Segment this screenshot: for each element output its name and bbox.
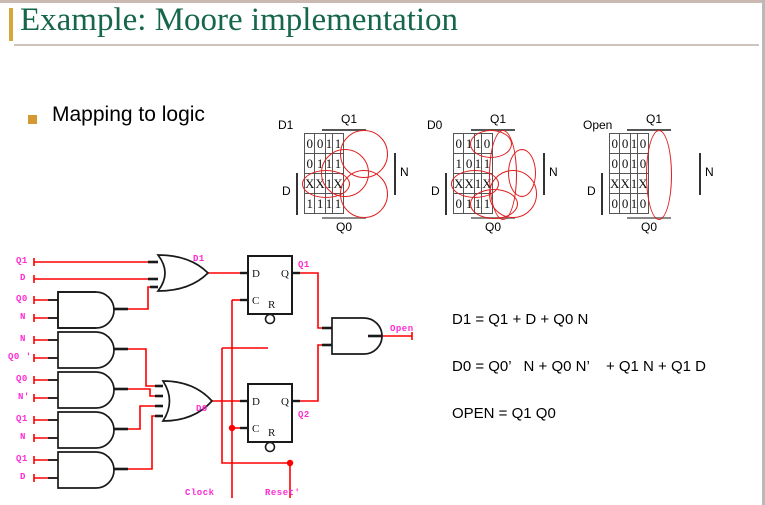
- kmap-left-bar: [445, 173, 447, 215]
- kmap-cell: 1: [630, 194, 638, 214]
- kmap-grid: 01101011XX1X0111: [453, 133, 493, 214]
- kmap-bottom-label: Q0: [336, 220, 352, 234]
- circuit-input-label-n-b: N: [20, 334, 26, 344]
- kmap-right-bar: [699, 153, 701, 195]
- kmap-row: XX1X: [454, 174, 493, 194]
- kmap-cell: 1: [464, 134, 474, 154]
- kmap-cell: 1: [474, 194, 482, 214]
- kmap-grid: 00110111XX1X1111: [304, 133, 344, 214]
- kmap-right-label: N: [549, 165, 558, 179]
- circuit-control-label-clock: Clock: [185, 488, 215, 498]
- red-wires: [34, 258, 412, 498]
- equation-d1: D1 = Q1 + D + Q0 N: [452, 311, 588, 328]
- kmap-title: Open: [583, 118, 612, 132]
- kmap-cell: 1: [474, 134, 482, 154]
- kmap-cell: 0: [638, 194, 648, 214]
- kmap-cell: 1: [325, 174, 333, 194]
- kmap-left-bar: [601, 173, 603, 215]
- kmap-cell: 0: [305, 134, 315, 154]
- circuit-input-label-n-c: N: [20, 432, 26, 442]
- svg-text:D: D: [252, 268, 260, 280]
- kmap-row: 1111: [305, 194, 344, 214]
- circuit-input-label-q1-b: Q1: [16, 414, 28, 424]
- kmap-cell: 0: [638, 154, 648, 174]
- kmap-group-oval: [489, 170, 537, 218]
- circuit-net-label-d0: D0: [196, 404, 208, 414]
- circuit-input-label-d-a: D: [20, 273, 26, 283]
- kmap-cell: 0: [464, 154, 474, 174]
- kmap-cell: 1: [464, 194, 474, 214]
- kmap-cell: 1: [333, 194, 343, 214]
- kmap-group-oval: [489, 130, 517, 220]
- kmap-left-label: D: [431, 184, 440, 198]
- circuit-output-label-q1: Q1: [298, 260, 310, 270]
- kmap-row: 0111: [305, 154, 344, 174]
- kmap-cell: X: [482, 174, 492, 194]
- kmap-cell: 1: [305, 194, 315, 214]
- circuit-input-label-n-a: N: [20, 312, 26, 322]
- kmap-cell: 0: [315, 134, 325, 154]
- kmap-cell: X: [454, 174, 464, 194]
- kmap-left-bar: [296, 173, 298, 215]
- kmap-cell: X: [610, 174, 620, 194]
- svg-text:Q: Q: [281, 268, 289, 280]
- kmap-cell: X: [620, 174, 630, 194]
- slide-canvas: Example: Moore implementation Mapping to…: [0, 0, 765, 505]
- svg-text:C: C: [252, 295, 259, 307]
- kmap-right-bar: [394, 153, 396, 195]
- kmap-right-label: N: [705, 165, 714, 179]
- circuit-net-label-d1: D1: [193, 254, 205, 264]
- kmap-cell: X: [638, 174, 648, 194]
- kmap-row: 0010: [610, 154, 649, 174]
- kmap-left-label: D: [282, 184, 291, 198]
- kmap-cell: 1: [315, 154, 325, 174]
- kmap-cell: 0: [620, 194, 630, 214]
- kmap-cell: X: [333, 174, 343, 194]
- kmap-right-bar: [543, 153, 545, 195]
- kmap-top-bar: [627, 129, 671, 131]
- equation-open: OPEN = Q1 Q0: [452, 405, 556, 422]
- equation-d0: D0 = Q0’ N + Q0 N’ + Q1 N + Q1 D: [452, 358, 706, 375]
- kmap-row: 0011: [305, 134, 344, 154]
- circuit-output-label-open: Open: [390, 324, 414, 334]
- kmap-group-oval: [340, 170, 388, 218]
- circuit-input-label-q0-a: Q0: [16, 294, 28, 304]
- kmap-cell: X: [315, 174, 325, 194]
- kmap-cell: 0: [620, 134, 630, 154]
- kmap-left-label: D: [587, 184, 596, 198]
- gate-bodies: [48, 255, 382, 488]
- circuit-input-label-d-b: D: [20, 472, 26, 482]
- kmap-group-oval: [646, 130, 672, 220]
- kmap-cell: 0: [454, 134, 464, 154]
- circuit-input-label-q0not-a: Q0 ': [8, 352, 32, 362]
- kmap-grid: 00100010XX1X0010: [609, 133, 649, 214]
- kmap-cell: 0: [482, 134, 492, 154]
- kmap-cell: 1: [482, 194, 492, 214]
- kmap-cell: 1: [630, 134, 638, 154]
- kmap-cell: 0: [620, 154, 630, 174]
- kmap-top-bar: [471, 129, 515, 131]
- kmap-bottom-label: Q0: [485, 220, 501, 234]
- bullet-marker-icon: [28, 115, 37, 124]
- kmap-cell: 1: [333, 154, 343, 174]
- kmap-group-oval: [340, 130, 388, 178]
- svg-text:R: R: [268, 427, 276, 439]
- kmap-cell: 1: [474, 154, 482, 174]
- kmap-top-label: Q1: [646, 112, 662, 126]
- kmap-row: 0010: [610, 134, 649, 154]
- logic-circuit-diagram: D Q C R D Q C R Q1: [0, 248, 430, 505]
- kmap-row: XX1X: [610, 174, 649, 194]
- kmap-cell: 0: [610, 154, 620, 174]
- kmap-row: 0111: [454, 194, 493, 214]
- page-title: Example: Moore implementation: [20, 2, 458, 39]
- kmap-cell: 0: [610, 194, 620, 214]
- kmap-right-label: N: [400, 165, 409, 179]
- svg-text:D: D: [252, 396, 260, 408]
- kmap-cell: 1: [325, 134, 333, 154]
- svg-text:R: R: [268, 299, 276, 311]
- kmap-bottom-bar: [322, 217, 366, 219]
- kmap-cell: 1: [474, 174, 482, 194]
- title-accent-bar: [9, 8, 13, 41]
- circuit-svg: D Q C R D Q C R: [0, 248, 430, 505]
- svg-text:C: C: [252, 423, 259, 435]
- kmap-cell: 1: [482, 154, 492, 174]
- kmap-row: 1011: [454, 154, 493, 174]
- kmap-cell: 0: [638, 134, 648, 154]
- kmap-cell: 0: [305, 154, 315, 174]
- kmap-cell: 1: [454, 154, 464, 174]
- kmap-row: 0110: [454, 134, 493, 154]
- kmap-top-label: Q1: [490, 112, 506, 126]
- circuit-control-label-reset: Reset': [265, 488, 300, 498]
- kmap-cell: 0: [454, 194, 464, 214]
- kmap-top-label: Q1: [341, 112, 357, 126]
- kmap-cell: 1: [315, 194, 325, 214]
- title-underline-rule: [14, 44, 759, 46]
- kmap-cell: 1: [325, 194, 333, 214]
- kmap-row: XX1X: [305, 174, 344, 194]
- kmap-cell: 1: [333, 134, 343, 154]
- kmap-cell: 0: [610, 134, 620, 154]
- kmap-cell: 1: [630, 174, 638, 194]
- kmap-bottom-bar: [471, 217, 515, 219]
- kmap-cell: 1: [325, 154, 333, 174]
- kmap-top-bar: [322, 129, 366, 131]
- bullet-label: Mapping to logic: [52, 103, 205, 127]
- circuit-input-label-q0-b: Q0: [16, 374, 28, 384]
- svg-text:Q: Q: [281, 396, 289, 408]
- kmap-cell: X: [464, 174, 474, 194]
- kmap-row: 0010: [610, 194, 649, 214]
- kmap-bottom-label: Q0: [641, 220, 657, 234]
- kmap-cell: 1: [630, 154, 638, 174]
- circuit-input-label-q1-a: Q1: [16, 256, 28, 266]
- kmap-title: D0: [427, 118, 442, 132]
- circuit-output-label-q0: Q2: [298, 410, 310, 420]
- kmap-group-oval: [508, 149, 536, 197]
- circuit-input-label-nnot-a: N': [18, 392, 30, 402]
- kmap-title: D1: [278, 118, 293, 132]
- kmap-cell: X: [305, 174, 315, 194]
- kmap-bottom-bar: [627, 217, 671, 219]
- circuit-input-label-q1-c: Q1: [16, 454, 28, 464]
